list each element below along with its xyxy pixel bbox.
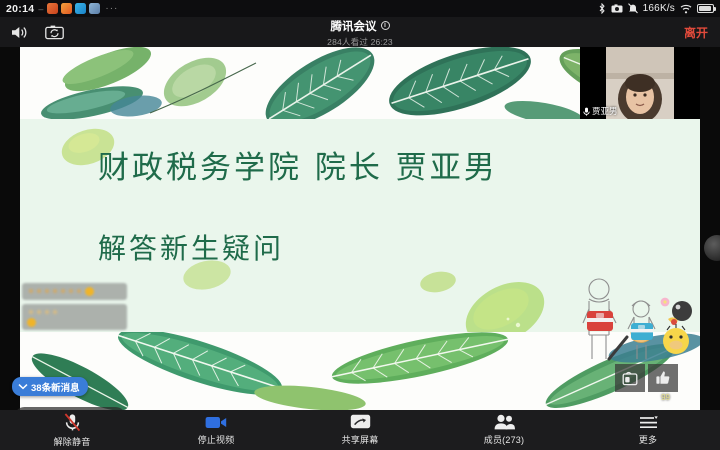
status-bar-right: 166K/s [598, 3, 714, 14]
speaker-icon[interactable] [11, 25, 29, 40]
more-button[interactable]: 更多 [576, 415, 720, 446]
battery-icon [697, 4, 714, 13]
meeting-app-root: 20:14 – ··· 166K/s [0, 0, 720, 450]
status-bar-left: 20:14 – ··· [6, 3, 118, 15]
participants-label: 成员(273) [484, 433, 524, 446]
slide-subtitle: 解答新生疑问 [98, 227, 658, 267]
more-label: 更多 [639, 433, 657, 446]
emoji-icon [85, 287, 94, 296]
floating-ball-icon[interactable] [704, 235, 720, 261]
share-screen-label: 共享屏幕 [342, 433, 379, 446]
mic-muted-icon [64, 413, 81, 432]
status-overflow-icon: ··· [105, 3, 118, 14]
gift-button[interactable] [615, 364, 645, 392]
mic-icon [583, 107, 590, 116]
status-bar: 20:14 – ··· 166K/s [0, 0, 720, 17]
unmute-label: 解除静音 [54, 435, 91, 448]
stop-video-button[interactable]: 停止视频 [144, 415, 288, 446]
gift-icon [622, 371, 638, 386]
switch-camera-icon[interactable] [45, 25, 64, 40]
app-icon-3 [75, 3, 86, 14]
stop-video-label: 停止视频 [198, 433, 235, 446]
participants-button[interactable]: 成员(273) [432, 414, 576, 446]
chat-message-text: ＊＊＊＊＊＊＊ [27, 287, 83, 296]
slide-title: 财政税务学院 院长 贾亚男 [98, 142, 658, 187]
chat-message-overlay: ＊＊＊＊＊＊＊ ＊＊＊＊ [22, 283, 127, 334]
participant-video-thumbnail[interactable]: 贾亚男 [580, 47, 700, 119]
wifi-icon [680, 4, 692, 14]
more-menu-icon [638, 415, 659, 430]
app-icon-2 [61, 3, 72, 14]
share-screen-icon [350, 414, 371, 430]
chat-message-bubble: ＊＊＊＊ [22, 304, 127, 330]
chat-message-bubble: ＊＊＊＊＊＊＊ [22, 283, 127, 300]
status-clock: 20:14 [6, 3, 34, 15]
share-screen-button[interactable]: 共享屏幕 [288, 414, 432, 446]
unmute-button[interactable]: 解除静音 [0, 413, 144, 448]
decor-leaf-small [418, 267, 458, 297]
meeting-subtitle: 284人看过 26:23 [0, 36, 720, 48]
page-title: 腾讯会议 [331, 18, 377, 34]
chevron-down-icon [18, 383, 28, 391]
leave-meeting-button[interactable]: 离开 [684, 24, 720, 41]
meeting-bottom-bar: 解除静音 停止视频 共享屏幕 成员(273) [0, 410, 720, 450]
meeting-top-bar: 腾讯会议 i 284人看过 26:23 离开 [0, 17, 720, 47]
mute-bell-icon [628, 3, 638, 14]
shared-screen-stage[interactable]: 财政税务学院 院长 贾亚男 解答新生疑问 [0, 47, 720, 410]
new-messages-badge[interactable]: 38条新消息 [12, 377, 88, 396]
app-icon-4 [89, 3, 100, 14]
network-speed-label: 166K/s [643, 3, 675, 14]
meeting-title-block: 腾讯会议 i 284人看过 26:23 [0, 17, 720, 48]
thumbs-up-icon [655, 370, 671, 386]
meeting-title-row: 腾讯会议 i [331, 18, 390, 34]
pip-participant-name: 贾亚男 [592, 105, 618, 117]
duck-sticker-icon [656, 297, 698, 355]
video-camera-icon [205, 415, 227, 430]
pip-name-badge: 贾亚男 [583, 105, 618, 117]
new-messages-label: 38条新消息 [31, 380, 80, 394]
top-bar-left-controls [0, 25, 64, 40]
app-icon-1 [47, 3, 58, 14]
info-icon[interactable]: i [381, 21, 390, 30]
slide-text-block: 财政税务学院 院长 贾亚男 解答新生疑问 [98, 142, 658, 267]
chat-message-text: ＊＊＊＊ [27, 308, 59, 317]
emoji-icon [27, 318, 36, 327]
reaction-buttons [615, 364, 678, 392]
participants-icon [493, 414, 515, 430]
camera-icon [611, 4, 623, 13]
like-count: 99 [661, 393, 670, 402]
bluetooth-icon [598, 3, 606, 14]
status-separator: – [38, 4, 43, 14]
like-button[interactable] [648, 364, 678, 392]
